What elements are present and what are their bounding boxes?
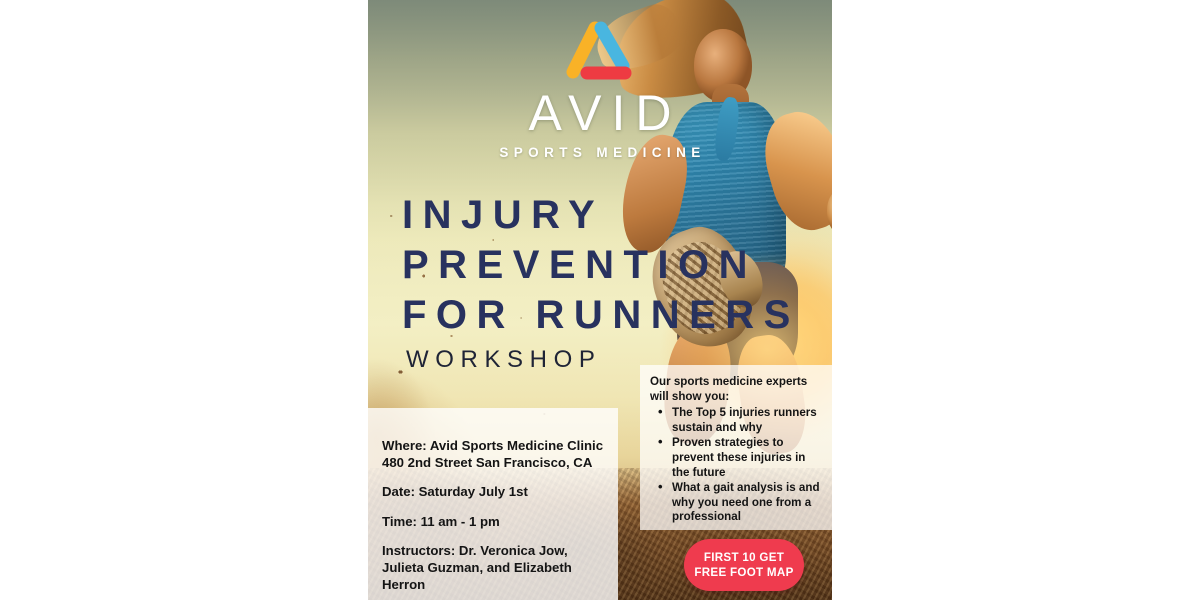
detail-where: Where: Avid Sports Medicine Clinic 480 2…	[382, 438, 604, 471]
detail-date: Date: Saturday July 1st	[382, 484, 604, 501]
headline-line-3: FOR RUNNERS	[402, 290, 822, 340]
list-item: The Top 5 injuries runners sustain and w…	[652, 406, 822, 435]
takeaways-info-box: Our sports medicine experts will show yo…	[640, 365, 832, 530]
list-item: Proven strategies to prevent these injur…	[652, 436, 822, 480]
event-details-panel: Where: Avid Sports Medicine Clinic 480 2…	[368, 408, 618, 600]
promo-badge-line-1: FIRST 10 GET	[704, 550, 784, 565]
poster-headline: INJURY PREVENTION FOR RUNNERS WORKSHOP	[402, 190, 822, 374]
detail-instructors: Instructors: Dr. Veronica Jow, Julieta G…	[382, 543, 604, 593]
takeaways-intro: Our sports medicine experts will show yo…	[650, 375, 822, 404]
headline-line-1: INJURY	[402, 190, 822, 240]
avid-wordmark: AVID	[368, 88, 832, 138]
headline-line-2: PREVENTION	[402, 240, 822, 290]
brand-lockup: AVID SPORTS MEDICINE	[368, 18, 832, 160]
list-item: What a gait analysis is and why you need…	[652, 481, 822, 525]
detail-time: Time: 11 am - 1 pm	[382, 514, 604, 531]
promo-badge[interactable]: FIRST 10 GET FREE FOOT MAP	[684, 539, 804, 591]
avid-triangle-logo-icon	[561, 18, 639, 80]
takeaways-list: The Top 5 injuries runners sustain and w…	[650, 406, 822, 525]
avid-tagline: SPORTS MEDICINE	[368, 145, 832, 160]
promo-badge-line-2: FREE FOOT MAP	[694, 565, 793, 580]
event-poster: AVID SPORTS MEDICINE INJURY PREVENTION F…	[368, 0, 832, 600]
screenshot-canvas: AVID SPORTS MEDICINE INJURY PREVENTION F…	[0, 0, 1200, 600]
